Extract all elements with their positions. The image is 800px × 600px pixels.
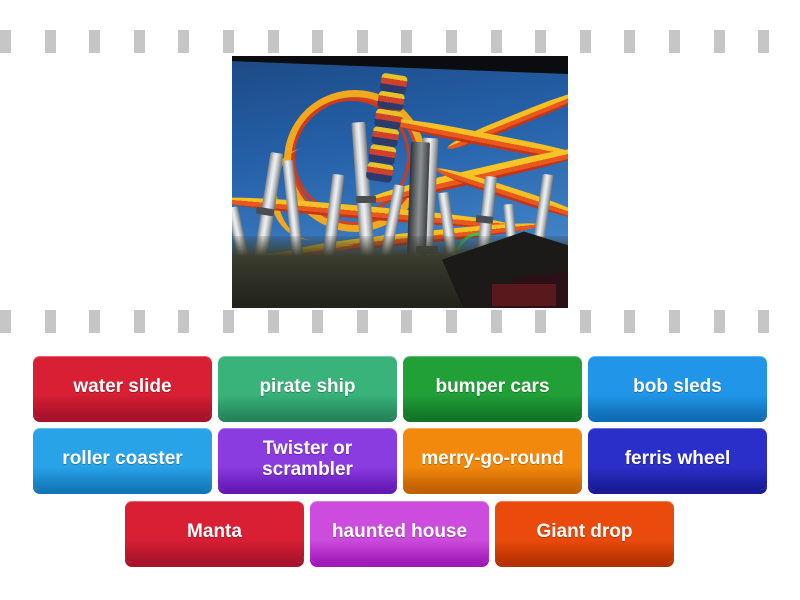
filmstrip-perforation xyxy=(89,310,100,333)
answer-tile-label: merry-go-round xyxy=(411,448,574,469)
prompt-image xyxy=(232,56,568,308)
filmstrip-perforation xyxy=(401,30,412,53)
answer-tile[interactable]: water slide xyxy=(33,356,212,418)
filmstrip-perforation xyxy=(714,30,725,53)
filmstrip-perforation xyxy=(0,310,11,333)
park-red-structure xyxy=(492,284,556,306)
filmstrip-perforation xyxy=(89,30,100,53)
filmstrip-perforation xyxy=(491,30,502,53)
filmstrip-perforation xyxy=(535,310,546,333)
filmstrip-bottom xyxy=(0,309,800,333)
answer-tile[interactable]: bob sleds xyxy=(588,356,767,418)
filmstrip-perforation xyxy=(401,310,412,333)
answer-tile[interactable]: pirate ship xyxy=(218,356,397,418)
match-up-activity: water slidepirate shipbumper carsbob sle… xyxy=(0,0,800,600)
filmstrip-perforation xyxy=(312,310,323,333)
filmstrip-perforation xyxy=(535,30,546,53)
answer-tile[interactable]: bumper cars xyxy=(403,356,582,418)
answer-tile-label: ferris wheel xyxy=(596,448,759,469)
filmstrip-perforation xyxy=(446,30,457,53)
answer-tile-label: Manta xyxy=(133,521,296,542)
filmstrip-perforation xyxy=(580,30,591,53)
answer-tile-label: water slide xyxy=(41,376,204,397)
filmstrip-perforation xyxy=(268,310,279,333)
answer-tile[interactable]: haunted house xyxy=(310,501,489,563)
filmstrip-perforation xyxy=(178,310,189,333)
filmstrip-perforation xyxy=(178,30,189,53)
filmstrip-perforation xyxy=(669,30,680,53)
filmstrip-perforation xyxy=(491,310,502,333)
filmstrip-perforation xyxy=(223,30,234,53)
roller-coaster-photo xyxy=(232,56,568,308)
filmstrip-perforation xyxy=(134,30,145,53)
answer-tile[interactable]: ferris wheel xyxy=(588,428,767,490)
filmstrip-perforation xyxy=(446,310,457,333)
filmstrip-perforation xyxy=(624,30,635,53)
filmstrip-perforation xyxy=(357,310,368,333)
filmstrip-perforation xyxy=(312,30,323,53)
filmstrip-perforation xyxy=(758,310,769,333)
answer-tile-label: haunted house xyxy=(318,521,481,542)
filmstrip-perforation xyxy=(714,310,725,333)
filmstrip-perforation xyxy=(580,310,591,333)
answer-tile[interactable]: Manta xyxy=(125,501,304,563)
filmstrip-perforation xyxy=(223,310,234,333)
answer-tile-label: Giant drop xyxy=(503,521,666,542)
filmstrip-perforation xyxy=(758,30,769,53)
filmstrip-perforation xyxy=(624,310,635,333)
filmstrip-perforation xyxy=(0,30,11,53)
filmstrip-perforation xyxy=(357,30,368,53)
column-joint xyxy=(356,196,376,203)
filmstrip-perforation xyxy=(669,310,680,333)
filmstrip-perforation xyxy=(268,30,279,53)
answer-tile-label: Twister or scrambler xyxy=(226,438,389,481)
answer-tile[interactable]: Twister or scrambler xyxy=(218,428,397,490)
answer-tile[interactable]: Giant drop xyxy=(495,501,674,563)
filmstrip-perforation xyxy=(134,310,145,333)
answer-tile-label: roller coaster xyxy=(41,448,204,469)
answer-tile-label: bumper cars xyxy=(411,376,574,397)
filmstrip-perforation xyxy=(45,310,56,333)
filmstrip-top xyxy=(0,29,800,53)
filmstrip-perforation xyxy=(45,30,56,53)
answer-tile-label: pirate ship xyxy=(226,376,389,397)
answer-tile-label: bob sleds xyxy=(596,376,759,397)
answer-tile[interactable]: merry-go-round xyxy=(403,428,582,490)
answer-tile[interactable]: roller coaster xyxy=(33,428,212,490)
